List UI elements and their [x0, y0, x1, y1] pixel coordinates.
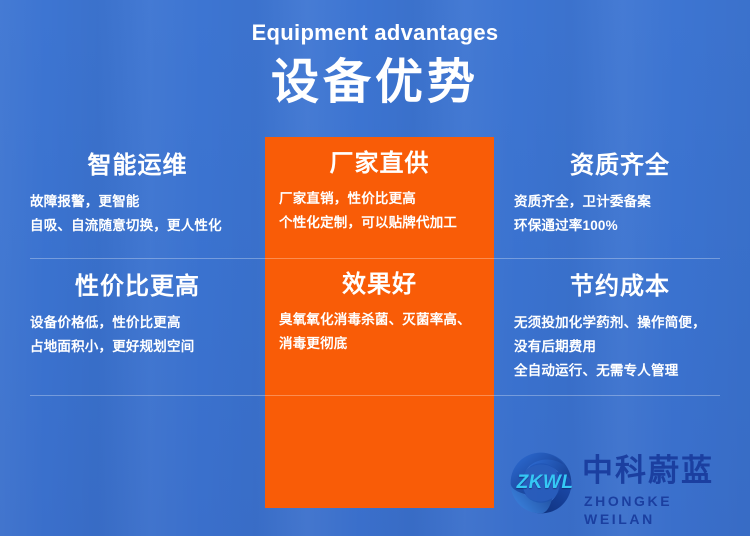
- page-title: 设备优势: [0, 54, 750, 112]
- advantages-row-1: 智能运维 故障报警，更智能 自吸、自流随意切换，更人性化 厂家直供 厂家直销，性…: [0, 137, 750, 258]
- logo-mark-text: ZKWL: [516, 472, 574, 494]
- advantage-cell-4: 性价比更高 设备价格低，性价比更高 占地面积小，更好规划空间: [0, 258, 265, 395]
- advantages-row-2: 性价比更高 设备价格低，性价比更高 占地面积小，更好规划空间 效果好 臭氧氧化消…: [0, 258, 750, 395]
- advantage-desc-3: 资质齐全，卫计委备案 环保通过率100%: [514, 190, 726, 238]
- advantage-desc-line: 消毒更彻底: [279, 332, 480, 356]
- advantage-title-4: 性价比更高: [30, 258, 245, 302]
- advantage-desc-line: 厂家直销，性价比更高: [279, 187, 480, 211]
- advantage-desc-line: 全自动运行、无需专人管理: [514, 359, 726, 383]
- logo-company-name-en: ZHONGKE WEILAN: [584, 492, 740, 528]
- advantage-desc-line: 资质齐全，卫计委备案: [514, 190, 726, 214]
- advantage-desc-5: 臭氧氧化消毒杀菌、灭菌率高、 消毒更彻底: [279, 308, 480, 356]
- advantage-desc-1: 故障报警，更智能 自吸、自流随意切换，更人性化: [30, 190, 245, 238]
- company-logo: ZKWL 中科蔚蓝 ZHONGKE WEILAN: [508, 448, 740, 520]
- advantage-cell-1: 智能运维 故障报警，更智能 自吸、自流随意切换，更人性化: [0, 137, 265, 258]
- advantage-title-1: 智能运维: [30, 137, 245, 181]
- advantage-title-6: 节约成本: [514, 258, 726, 302]
- advantages-grid: 智能运维 故障报警，更智能 自吸、自流随意切换，更人性化 厂家直供 厂家直销，性…: [0, 137, 750, 395]
- advantage-desc-4: 设备价格低，性价比更高 占地面积小，更好规划空间: [30, 311, 245, 359]
- advantage-desc-line: 个性化定制，可以贴牌代加工: [279, 211, 480, 235]
- advantage-cell-5: 效果好 臭氧氧化消毒杀菌、灭菌率高、 消毒更彻底: [265, 258, 494, 395]
- row-divider-2: [30, 395, 720, 396]
- poster-header: Equipment advantages 设备优势: [0, 0, 750, 112]
- advantage-title-5: 效果好: [279, 258, 480, 300]
- advantage-cell-3: 资质齐全 资质齐全，卫计委备案 环保通过率100%: [494, 137, 750, 258]
- advantage-desc-line: 设备价格低，性价比更高: [30, 311, 245, 335]
- advantage-desc-line: 故障报警，更智能: [30, 190, 245, 214]
- header-subtitle-en: Equipment advantages: [0, 18, 750, 48]
- advantage-desc-6: 无须投加化学药剂、操作简便， 没有后期费用 全自动运行、无需专人管理: [514, 311, 726, 383]
- advantage-desc-line: 无须投加化学药剂、操作简便，: [514, 311, 726, 335]
- advantage-desc-line: 自吸、自流随意切换，更人性化: [30, 214, 245, 238]
- advantage-desc-line: 环保通过率100%: [514, 214, 726, 238]
- logo-company-name-cn: 中科蔚蓝: [582, 454, 714, 488]
- advantage-desc-2: 厂家直销，性价比更高 个性化定制，可以贴牌代加工: [279, 187, 480, 235]
- advantage-cell-2: 厂家直供 厂家直销，性价比更高 个性化定制，可以贴牌代加工: [265, 137, 494, 258]
- advantage-cell-6: 节约成本 无须投加化学药剂、操作简便， 没有后期费用 全自动运行、无需专人管理: [494, 258, 750, 395]
- advantage-desc-line: 占地面积小，更好规划空间: [30, 335, 245, 359]
- advantage-desc-line: 臭氧氧化消毒杀菌、灭菌率高、: [279, 308, 480, 332]
- advantage-title-2: 厂家直供: [279, 137, 480, 179]
- advantages-poster: Equipment advantages 设备优势 智能运维 故障报警，更智能 …: [0, 0, 750, 536]
- advantage-title-3: 资质齐全: [514, 137, 726, 181]
- advantage-desc-line: 没有后期费用: [514, 335, 726, 359]
